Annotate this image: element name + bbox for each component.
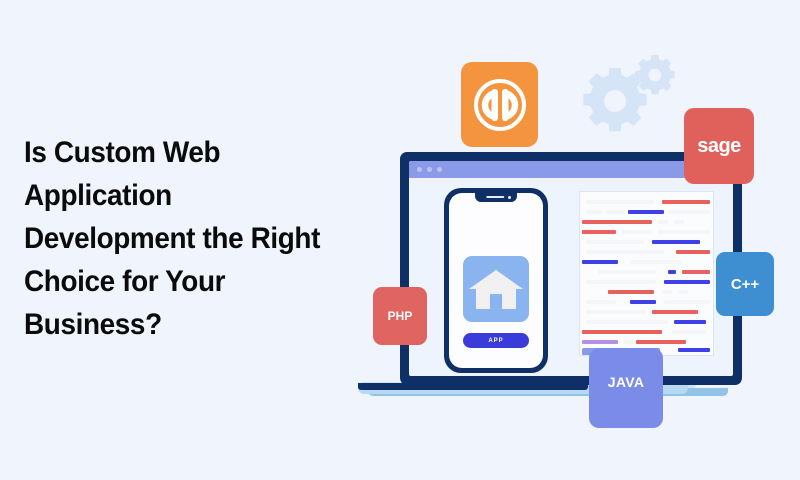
- code-line-segment: [586, 200, 654, 204]
- app-tile: [463, 256, 529, 322]
- code-line-segment: [622, 230, 652, 234]
- code-line-segment: [582, 230, 616, 234]
- gear-small-icon: [634, 54, 676, 96]
- code-line-segment: [582, 340, 618, 344]
- code-line-segment: [652, 240, 700, 244]
- code-line-segment: [608, 290, 654, 294]
- code-line-segment: [586, 310, 646, 314]
- code-line-segment: [678, 290, 688, 294]
- code-line-segment: [652, 310, 698, 314]
- code-line-segment: [582, 260, 618, 264]
- code-line-segment: [586, 300, 616, 304]
- app-button[interactable]: APP: [463, 333, 529, 348]
- code-line-segment: [672, 330, 706, 334]
- phone-camera-icon: [508, 196, 511, 199]
- code-line-segment: [676, 250, 710, 254]
- code-line-segment: [668, 270, 676, 274]
- code-line-segment: [662, 200, 710, 204]
- code-line-segment: [682, 270, 710, 274]
- home-icon: [463, 256, 529, 322]
- phone-speaker-icon: [486, 196, 504, 198]
- code-line-segment: [586, 320, 668, 324]
- code-line-segment: [586, 210, 602, 214]
- code-line-segment: [674, 320, 706, 324]
- code-line-segment: [664, 300, 710, 304]
- badge-php[interactable]: PHP: [373, 287, 427, 345]
- code-line-segment: [582, 330, 662, 334]
- browser-dot-minimize-icon: [427, 167, 432, 172]
- code-line-segment: [606, 210, 624, 214]
- badge-quickbooks[interactable]: [461, 62, 538, 147]
- code-line-segment: [674, 220, 684, 224]
- code-line-segment: [630, 260, 682, 264]
- quickbooks-logo-icon: [474, 79, 526, 131]
- code-line-segment: [628, 210, 664, 214]
- hero-illustration: APP sage C++ JAVA PHP: [0, 0, 800, 480]
- code-line-segment: [624, 340, 634, 344]
- badge-cpp[interactable]: C++: [716, 252, 774, 316]
- phone-screen: APP: [449, 193, 543, 368]
- code-line-segment: [582, 220, 652, 224]
- code-line-segment: [662, 290, 672, 294]
- code-line-segment: [668, 210, 710, 214]
- code-line-segment: [598, 270, 656, 274]
- code-line-segment: [664, 280, 710, 284]
- code-line-segment: [630, 300, 656, 304]
- code-line-segment: [586, 250, 664, 254]
- code-line-segment: [586, 240, 644, 244]
- code-line-segment: [658, 230, 710, 234]
- code-line-segment: [636, 340, 686, 344]
- browser-dot-close-icon: [417, 167, 422, 172]
- code-line-segment: [658, 220, 668, 224]
- code-editor-panel: [579, 191, 714, 356]
- code-line-segment: [678, 348, 710, 352]
- hero-banner: Is Custom Web Application Development th…: [0, 0, 800, 480]
- code-line-segment: [586, 280, 656, 284]
- phone-mockup: APP: [444, 188, 548, 373]
- badge-sage[interactable]: sage: [684, 108, 754, 184]
- badge-java[interactable]: JAVA: [589, 348, 663, 428]
- browser-dot-maximize-icon: [437, 167, 442, 172]
